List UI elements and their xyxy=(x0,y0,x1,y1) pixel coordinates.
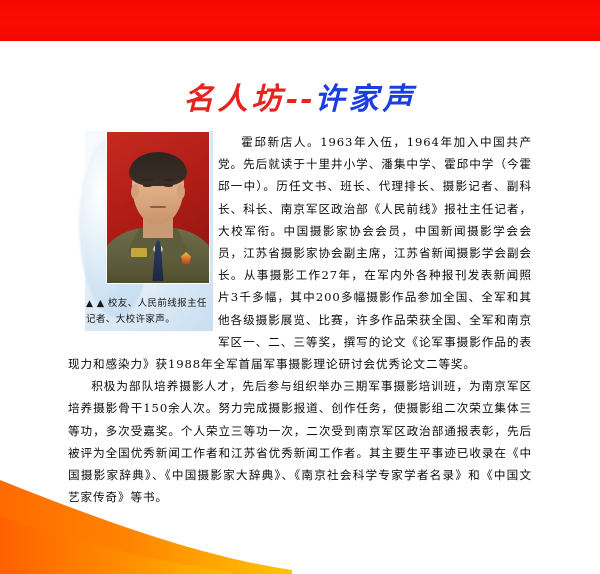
top-red-banner xyxy=(0,0,600,41)
page-title-dash: -- xyxy=(286,82,315,117)
orange-swoosh-icon xyxy=(0,454,600,574)
page-title-red: 名人坊 xyxy=(184,82,286,117)
top-banner-gradient xyxy=(0,0,600,41)
photo-text-wrap-spacer xyxy=(68,131,218,333)
page-title: 名人坊--许家声 xyxy=(0,74,600,118)
page-root: 名人坊--许家声 ▲ ▲ 校友、人民前线报主任记者、 xyxy=(0,0,600,574)
page-title-blue: 许家声 xyxy=(314,82,416,117)
article-body: 霍邱新店人。1963年入伍，1964年加入中国共产党。先后就读于十里井小学、潘集… xyxy=(68,131,532,508)
bottom-decoration xyxy=(0,454,600,574)
